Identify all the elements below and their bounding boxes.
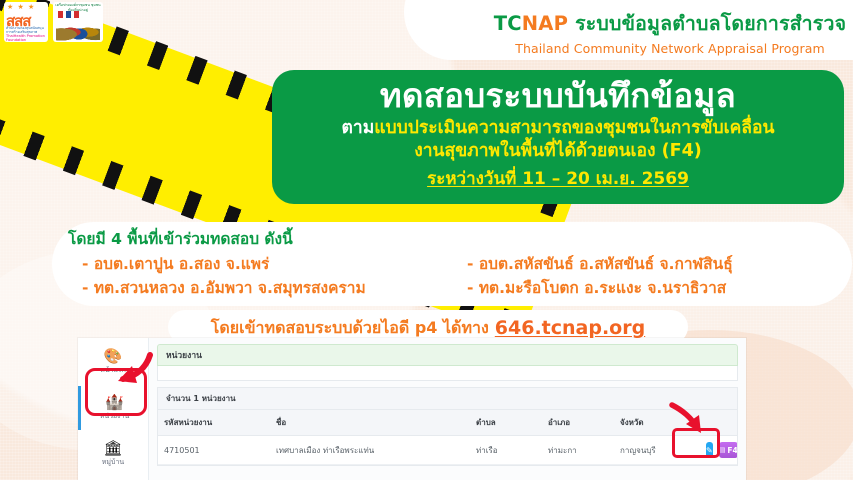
organization-table: จำนวน 1 หน่วยงาน รหัสหน่วยงาน ชื่อ ตำบล …: [157, 387, 738, 466]
access-url-link[interactable]: 646.tcnap.org: [495, 317, 645, 339]
banner-line-2: ตามแบบประเมินความสามารถของชุมชนในการขับเ…: [272, 117, 844, 139]
castle-icon: 🏰: [105, 395, 124, 410]
brand-nap: NAP: [522, 12, 568, 35]
community-network-logo: เครือข่ายองค์กรชุมชน ชุมชนท้องถิ่นน่าอยู…: [53, 2, 103, 42]
header-subtitle: Thailand Community Network Appraisal Pro…: [470, 41, 853, 56]
sidebar-item-organization-label: หน่วยงาน: [100, 411, 130, 422]
people-illustration-icon: [56, 19, 100, 41]
pie-chart-icon: 🎨: [104, 349, 123, 364]
banner-line-3: งานสุขภาพในพื้นที่ได้ด้วยตนเอง (F4): [272, 140, 844, 162]
document-icon: ▤: [719, 446, 726, 454]
column-district: อำเภอ: [542, 410, 614, 435]
banner-title: ทดสอบระบบบันทึกข้อมูล: [272, 76, 844, 116]
flag-red-icon: [58, 11, 63, 18]
area-item-4: - ทต.มะรือโบตก อ.ระแงะ จ.นราธิวาส: [453, 277, 853, 299]
banner-line3-highlight: งานสุขภาพในพื้นที่ได้ด้วยตนเอง (F4): [414, 141, 702, 161]
sidebar-item-home[interactable]: 🎨 หน้าแรก: [78, 340, 148, 384]
app-screenshot: 🎨 หน้าแรก 🏰 หน่วยงาน 🏛 หมู่บ้าน หน่วยงาน…: [78, 338, 746, 480]
logo-group: ★ ★ ★ สสส สำนักงานกองทุนสนับสนุนการสร้าง…: [4, 2, 103, 42]
area-item-2: - อบต.สหัสขันธ์ อ.สหัสขันธ์ จ.กาฬสินธุ์: [453, 253, 853, 275]
sidebar-item-village-label: หมู่บ้าน: [102, 457, 124, 468]
column-name: ชื่อ: [270, 410, 470, 435]
pencil-icon: ✎: [706, 446, 713, 455]
column-actions: [700, 417, 737, 429]
table-row[interactable]: 4710501 เทศบาลเมือง ท่าเรือพระแท่น ท่าเร…: [158, 436, 737, 465]
areas-heading: โดยมี 4 พื้นที่เข้าร่วมทดสอบ ดังนี้: [68, 226, 853, 251]
sidebar-item-organization[interactable]: 🏰 หน่วยงาน: [78, 386, 148, 430]
area-item-3: - ทต.สวนหลวง อ.อัมพวา จ.สมุทรสงคราม: [68, 277, 453, 299]
cell-actions: ✎ ▤F4: [700, 436, 737, 464]
column-code: รหัสหน่วยงาน: [158, 410, 270, 435]
page-title: TCNAP ระบบข้อมูลตำบลโดยการสำรวจ: [470, 8, 853, 39]
bank-icon: 🏛: [103, 441, 122, 456]
cell-name: เทศบาลเมือง ท่าเรือพระแท่น: [270, 438, 470, 463]
panel-header: หน่วยงาน: [157, 344, 738, 366]
areas-grid: - อบต.เตาปูน อ.สอง จ.แพร่ - อบต.สหัสขันธ…: [68, 253, 853, 300]
app-sidebar: 🎨 หน้าแรก 🏰 หน่วยงาน 🏛 หมู่บ้าน: [78, 338, 149, 480]
column-subdistrict: ตำบล: [470, 410, 542, 435]
banner-date-range: ระหว่างวันที่ 11 – 20 เม.ย. 2569: [272, 165, 844, 192]
f4-button[interactable]: ▤F4: [719, 442, 737, 458]
access-content: โดยเข้าทดสอบระบบด้วยไอดี p4 ได้ทาง 646.t…: [168, 313, 688, 343]
cell-province: กาญจนบุรี: [614, 438, 700, 463]
table-header-row: รหัสหน่วยงาน ชื่อ ตำบล อำเภอ จังหวัด: [158, 410, 737, 436]
sidebar-item-home-label: หน้าแรก: [100, 365, 126, 376]
banner-line2-plain: ตาม: [342, 118, 375, 138]
panel-search-area: [157, 366, 738, 381]
brand-thai-title: ระบบข้อมูลตำบลโดยการสำรวจ: [568, 12, 846, 35]
app-main: หน่วยงาน จำนวน 1 หน่วยงาน รหัสหน่วยงาน ช…: [149, 338, 746, 480]
thaihealth-logo: ★ ★ ★ สสส สำนักงานกองทุนสนับสนุนการสร้าง…: [4, 2, 48, 42]
column-province: จังหวัด: [614, 410, 700, 435]
announcement-banner: ทดสอบระบบบันทึกข้อมูล ตามแบบประเมินความส…: [272, 70, 844, 204]
flags-icon: [58, 11, 79, 18]
areas-content: โดยมี 4 พื้นที่เข้าร่วมทดสอบ ดังนี้ - อบ…: [68, 226, 853, 300]
f4-button-label: F4: [727, 446, 737, 455]
sidebar-item-village[interactable]: 🏛 หมู่บ้าน: [78, 432, 148, 476]
banner-line2-highlight: แบบประเมินความสามารถของชุมชนในการขับเคลื…: [374, 118, 774, 138]
flag-blue-icon: [66, 11, 71, 18]
panel-title: หน่วยงาน: [166, 348, 202, 362]
area-item-1: - อบต.เตาปูน อ.สอง จ.แพร่: [68, 253, 453, 275]
poster-canvas: ★ ★ ★ สสส สำนักงานกองทุนสนับสนุนการสร้าง…: [0, 0, 853, 480]
record-count: จำนวน 1 หน่วยงาน: [158, 388, 737, 410]
flag-red-2-icon: [74, 11, 79, 18]
cell-subdistrict: ท่าเรือ: [470, 438, 542, 463]
access-label: โดยเข้าทดสอบระบบด้วยไอดี p4 ได้ทาง: [211, 316, 489, 341]
brand-tc: TC: [494, 12, 522, 35]
thaihealth-subtitle-en: ThaiHealth Promotion Foundation: [6, 34, 46, 43]
cell-district: ท่ามะกา: [542, 438, 614, 463]
edit-button[interactable]: ✎: [706, 442, 713, 458]
header-text-block: TCNAP ระบบข้อมูลตำบลโดยการสำรวจ Thailand…: [470, 8, 853, 56]
cell-code: 4710501: [158, 440, 270, 461]
